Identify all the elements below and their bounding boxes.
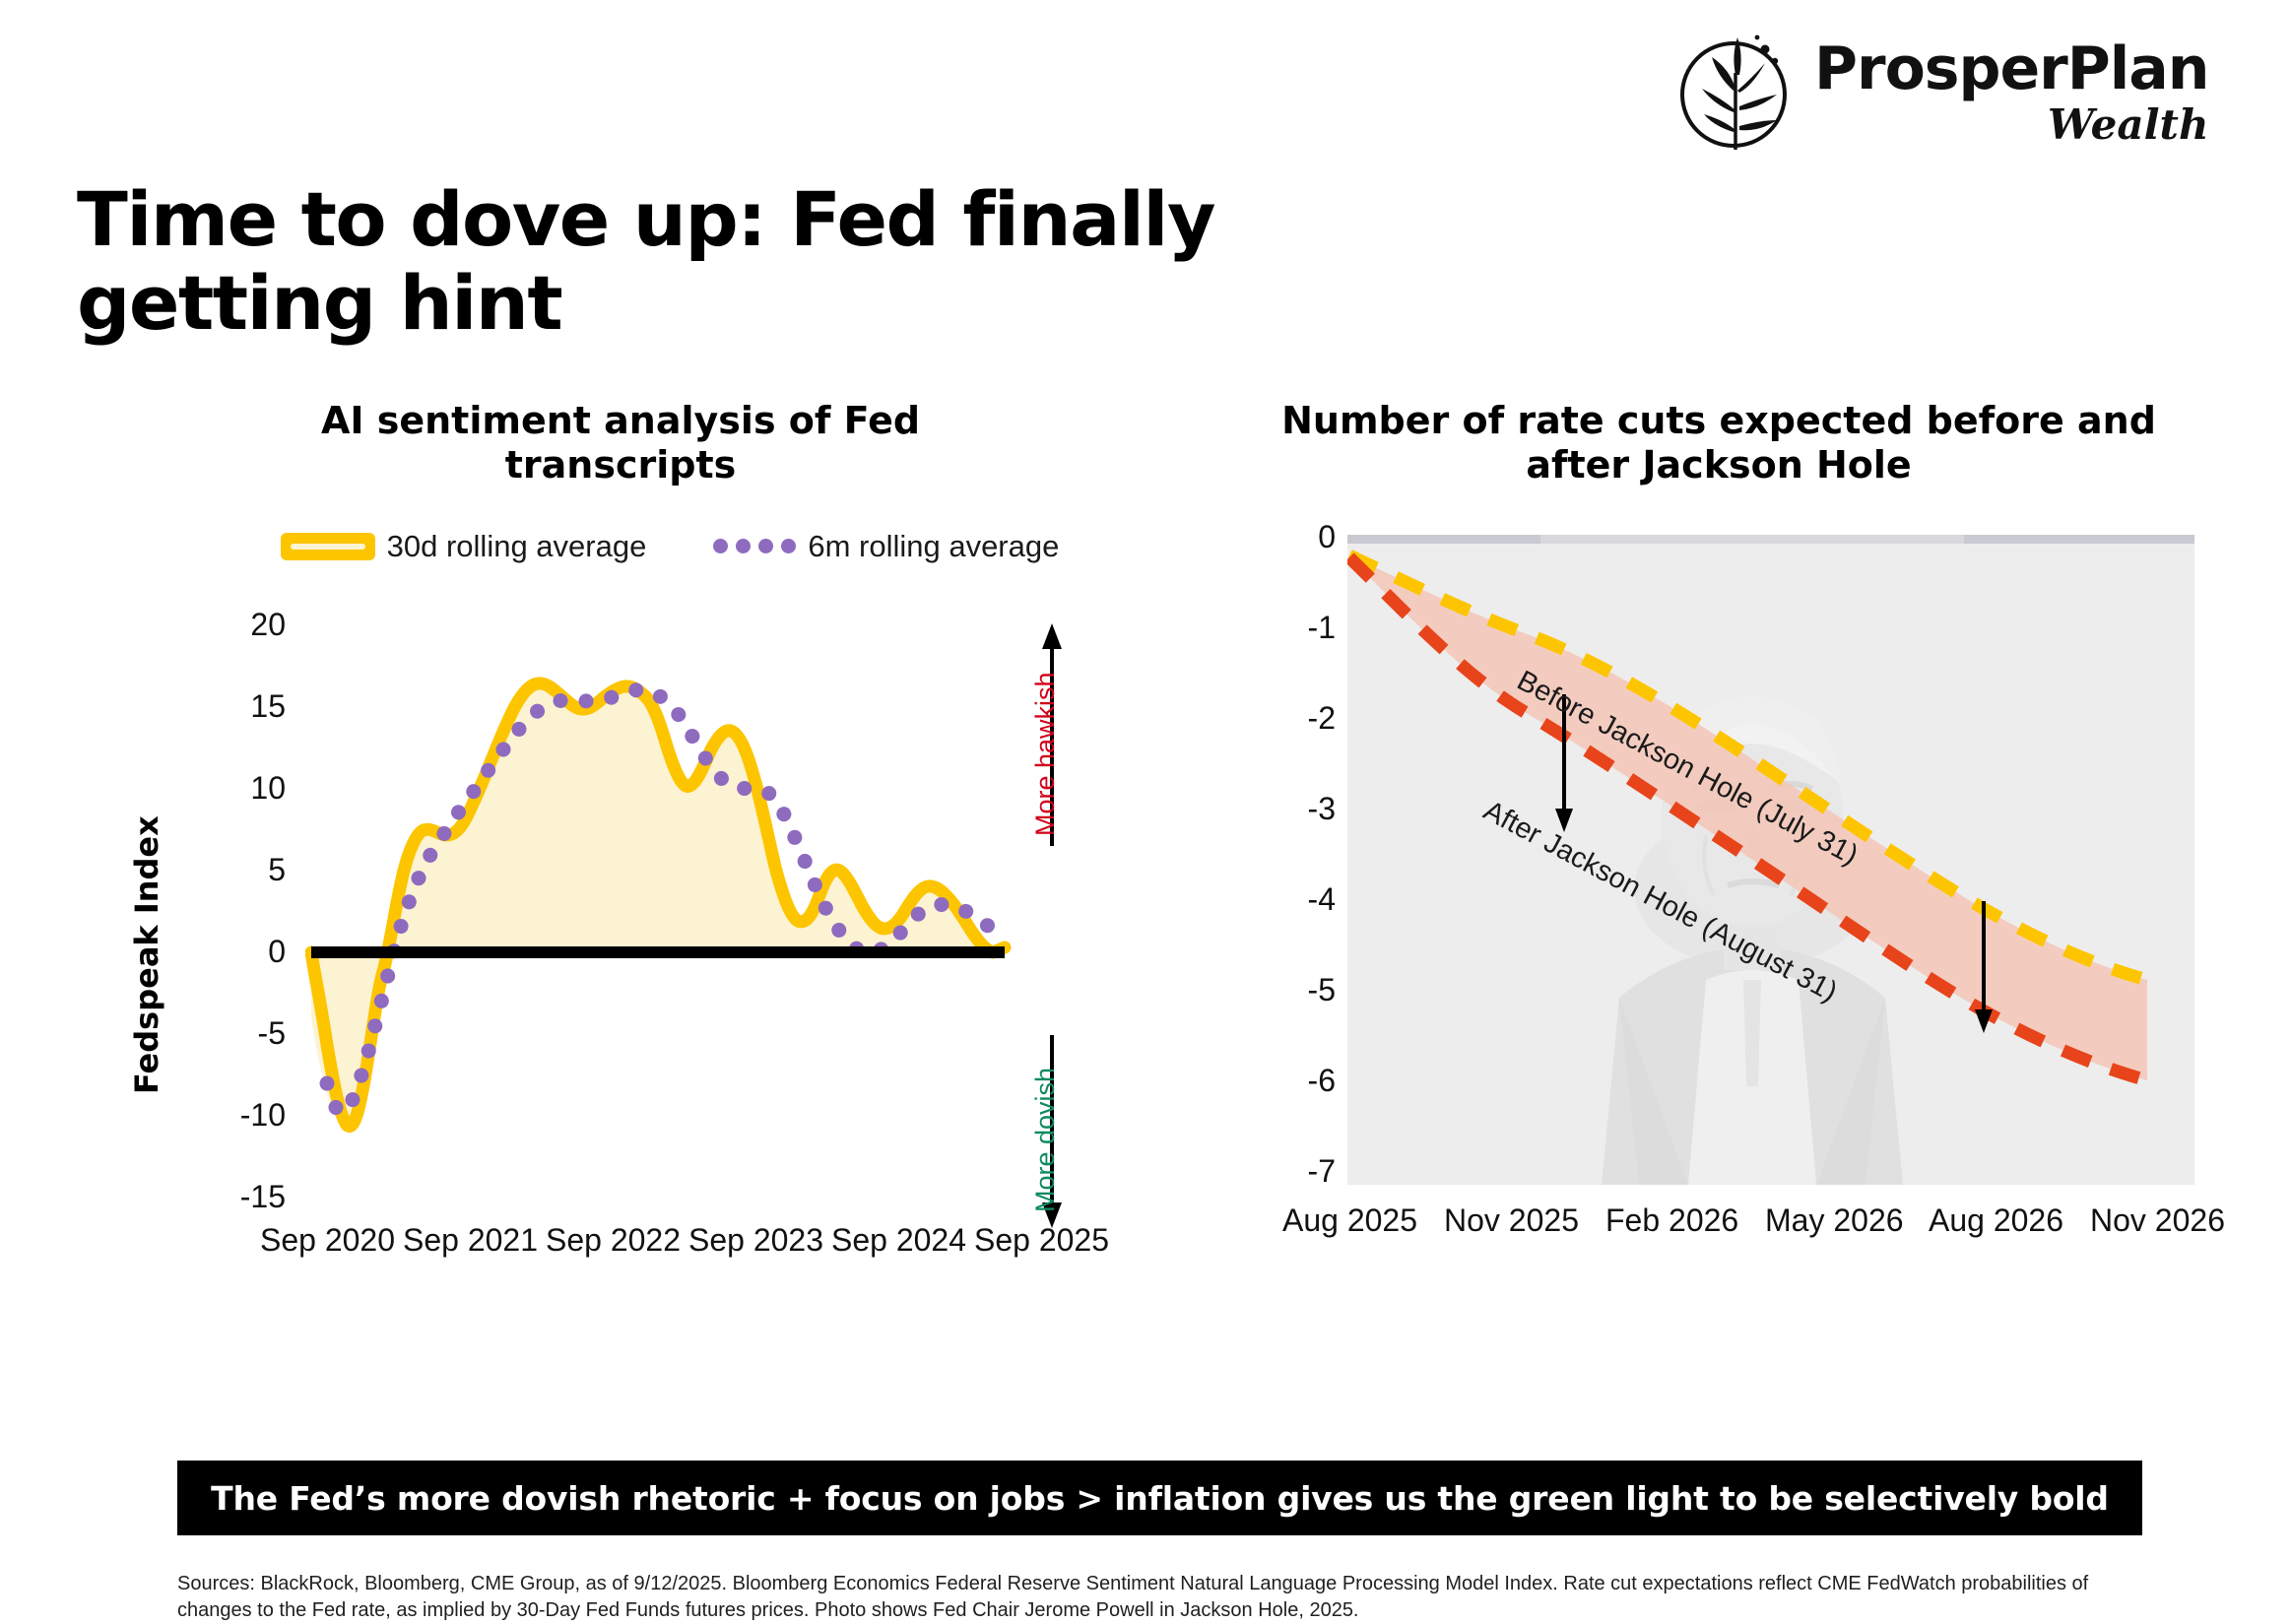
chart-legend: 30d rolling average 6m rolling average <box>138 529 1202 564</box>
x-tick-right-1: Nov 2025 <box>1444 1202 1579 1239</box>
leaf-branch-circle-icon <box>1674 30 1800 156</box>
annotation-more-hawkish: More hawkish <box>1030 672 1061 836</box>
y-tick-right-7: -7 <box>1251 1153 1336 1190</box>
brand-name: ProsperPlan <box>1814 39 2208 98</box>
y-tick-right-2: -2 <box>1251 700 1336 737</box>
x-tick-left-0: Sep 2020 <box>260 1222 395 1259</box>
x-tick-right-4: Aug 2026 <box>1929 1202 2063 1239</box>
solid-line-swatch-icon <box>281 533 375 560</box>
y-tick-right-4: -4 <box>1251 881 1336 918</box>
y-tick-right-1: -1 <box>1251 610 1336 646</box>
y-tick-right-5: -5 <box>1251 972 1336 1008</box>
plot-area-left: Fedspeak Index 20 15 10 5 0 -5 -10 -15 <box>118 582 1202 1271</box>
legend-label-30d: 30d rolling average <box>387 529 647 564</box>
takeaway-text: The Fed’s more dovish rhetoric + focus o… <box>211 1479 2109 1518</box>
ratecuts-line-chart <box>1347 535 2194 1185</box>
plot-background-right: Before Jackson Hole (July 31) After Jack… <box>1347 535 2194 1185</box>
x-tick-right-5: Nov 2026 <box>2090 1202 2225 1239</box>
legend-item-6m[interactable]: 6m rolling average <box>713 529 1059 564</box>
dotted-line-swatch-icon <box>713 539 796 553</box>
x-tick-left-1: Sep 2021 <box>403 1222 538 1259</box>
chart-title-left: AI sentiment analysis of Fed transcripts <box>246 399 995 487</box>
chart-title-right: Number of rate cuts expected before and … <box>1261 399 2177 487</box>
x-tick-left-4: Sep 2024 <box>831 1222 966 1259</box>
y-tick-right-6: -6 <box>1251 1063 1336 1099</box>
chart-panel-sentiment: AI sentiment analysis of Fed transcripts… <box>118 399 1202 1344</box>
legend-label-6m: 6m rolling average <box>808 529 1059 564</box>
brand-tagline: Wealth <box>1814 100 2208 149</box>
x-tick-right-2: Feb 2026 <box>1605 1202 1738 1239</box>
plot-area-right: 0 -1 -2 -3 -4 -5 -6 -7 <box>1251 527 2216 1256</box>
x-tick-right-3: May 2026 <box>1765 1202 1904 1239</box>
x-tick-left-3: Sep 2023 <box>688 1222 823 1259</box>
annotation-more-dovish: More dovish <box>1030 1068 1061 1212</box>
x-tick-right-0: Aug 2025 <box>1282 1202 1417 1239</box>
x-tick-left-2: Sep 2022 <box>546 1222 681 1259</box>
legend-item-30d[interactable]: 30d rolling average <box>281 529 647 564</box>
brand-logo: ProsperPlan Wealth <box>1674 22 2226 160</box>
takeaway-banner: The Fed’s more dovish rhetoric + focus o… <box>177 1461 2142 1535</box>
y-tick-right-0: 0 <box>1251 519 1336 555</box>
x-tick-left-5: Sep 2025 <box>974 1222 1109 1259</box>
page-title: Time to dove up: Fed finally getting hin… <box>77 177 1456 345</box>
chart-panel-ratecuts: Number of rate cuts expected before and … <box>1251 399 2216 1344</box>
y-tick-right-3: -3 <box>1251 791 1336 827</box>
